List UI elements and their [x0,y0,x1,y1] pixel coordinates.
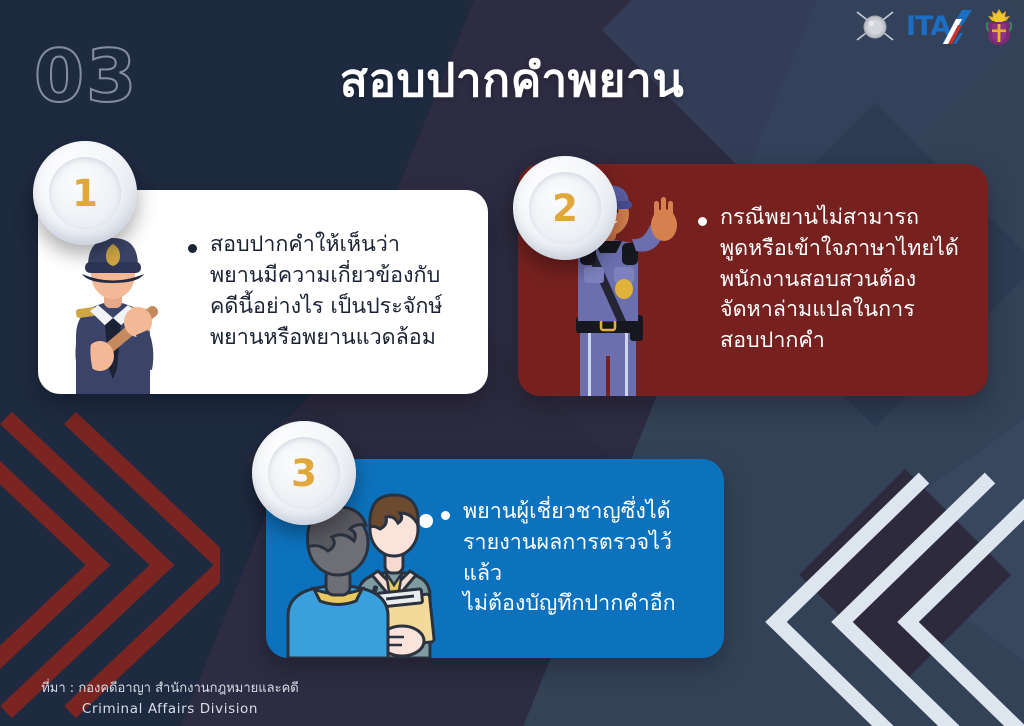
chevron-pattern-right-icon [764,470,1024,726]
nacc-emblem-icon [854,7,896,47]
step-badge-3: 3 [252,421,356,525]
footer-source-english: Criminal Affairs Division [0,699,340,720]
card-3-text: พยานผู้เชี่ยวชาญซึ่งได้ รายงานผลการตรวจไ… [463,497,706,621]
page-title: สอบปากคำพยาน [0,44,1024,117]
step-badge-2-number: 2 [552,187,578,230]
footer-source: ที่มา : กองคดีอาญา สำนักงานกฎหมายและคดี … [0,679,340,720]
card-1-text: สอบปากคำให้เห็นว่า พยานมีความเกี่ยวข้องก… [210,230,443,354]
card-2-text: กรณีพยานไม่สามารถ พูดหรือเข้าใจภาษาไทยได… [720,203,959,358]
bullet-point-icon [441,511,450,520]
bullet-point-icon [188,244,197,253]
step-badge-1-number: 1 [72,172,98,215]
step-badge-1: 1 [33,141,137,245]
logo-group: ITA [854,6,1014,48]
card-3-body: พยานผู้เชี่ยวชาญซึ่งได้ รายงานผลการตรวจไ… [441,497,724,621]
bullet-point-icon [698,217,707,226]
svg-text:ITA: ITA [906,11,951,42]
card-1-body: สอบปากคำให้เห็นว่า พยานมีความเกี่ยวข้องก… [188,230,488,354]
chevron-pattern-left-icon [0,400,220,726]
slide-root: 03 สอบปากคำพยาน ITA [0,0,1024,726]
footer-source-thai: ที่มา : กองคดีอาญา สำนักงานกฎหมายและคดี [0,679,340,699]
step-badge-2: 2 [513,156,617,260]
ita-logo-icon: ITA [906,7,974,47]
card-2-body: กรณีพยานไม่สามารถ พูดหรือเข้าใจภาษาไทยได… [698,203,988,358]
royal-thai-police-emblem-icon [984,7,1014,47]
step-badge-3-number: 3 [291,452,317,495]
